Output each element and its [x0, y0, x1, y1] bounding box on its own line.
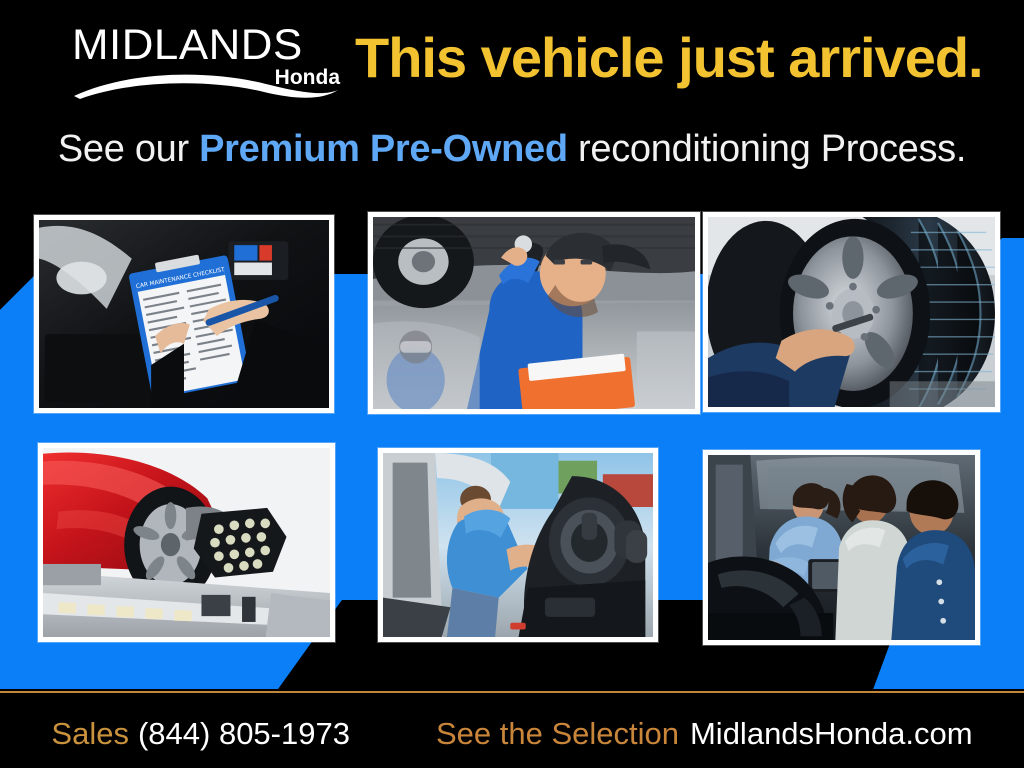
gallery-tile-undercarriage-inspection[interactable] [368, 212, 700, 414]
photo-customer-delivery [708, 455, 975, 640]
subheadline-highlight: Premium Pre-Owned [199, 128, 568, 170]
footer-sales-label: Sales [51, 716, 129, 752]
footer-website-link[interactable]: MidlandsHonda.com [690, 716, 973, 752]
swoosh-underline-icon [70, 68, 342, 100]
footer-divider [0, 689, 1024, 694]
brand-logo[interactable]: MIDLANDS Honda [72, 22, 342, 100]
photo-inspection-checklist: CAR MAINTENANCE CHECKLIST [39, 220, 329, 408]
advertisement-banner: MIDLANDS Honda This vehicle just arrived… [0, 0, 1024, 768]
photo-wheel-alignment [43, 448, 330, 637]
footer: Sales (844) 805-1973 See the Selection M… [0, 700, 1024, 768]
subheadline: See our Premium Pre-Owned reconditioning… [0, 126, 1024, 172]
photo-interior-detailing [383, 453, 653, 637]
logo-wordmark: MIDLANDS [72, 22, 347, 68]
footer-contact-row: Sales (844) 805-1973 See the Selection M… [51, 716, 972, 752]
gallery-tile-inspection-checklist[interactable]: CAR MAINTENANCE CHECKLIST [34, 215, 334, 413]
subheadline-prefix: See our [58, 128, 199, 170]
footer-see-selection-label[interactable]: See the Selection [436, 716, 679, 752]
photo-wheel-service [708, 217, 995, 407]
gallery-tile-wheel-alignment[interactable] [38, 443, 335, 642]
header: MIDLANDS Honda This vehicle just arrived… [0, 0, 1024, 190]
gallery-tile-interior-detailing[interactable] [378, 448, 658, 642]
page-title: This vehicle just arrived. [355, 26, 983, 90]
photo-undercarriage-inspection [373, 217, 695, 409]
gallery-tile-customer-delivery[interactable] [703, 450, 980, 645]
gallery-tile-wheel-service[interactable] [703, 212, 1000, 412]
subheadline-suffix: reconditioning Process. [568, 128, 966, 170]
footer-phone-number[interactable]: (844) 805-1973 [138, 716, 350, 752]
